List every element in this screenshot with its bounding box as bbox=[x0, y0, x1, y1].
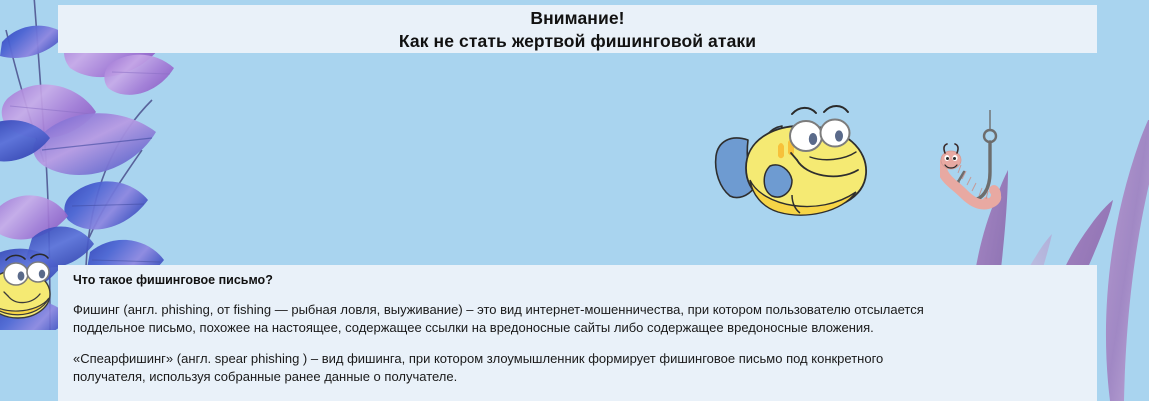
slide-title-panel: Внимание! Как не стать жертвой фишингово… bbox=[58, 5, 1097, 53]
yellow-fish-illustration bbox=[700, 100, 880, 235]
small-yellow-fish-illustration bbox=[0, 250, 58, 330]
title-line-2: Как не стать жертвой фишинговой атаки bbox=[58, 30, 1097, 53]
paragraph-phishing-last: поддельное письмо, похожее на настоящее,… bbox=[73, 319, 1082, 337]
paragraph-spearphishing-last: получателя, используя собранные ранее да… bbox=[73, 368, 1082, 386]
section-question: Что такое фишинговое письмо? bbox=[73, 273, 273, 287]
paragraph-spearphishing-main: «Спеарфишинг» (англ. spear phishing ) – … bbox=[73, 351, 883, 366]
fishing-hook-illustration bbox=[940, 110, 1020, 240]
content-panel: Что такое фишинговое письмо? Фишинг (анг… bbox=[58, 265, 1097, 401]
slide-canvas: Внимание! Как не стать жертвой фишингово… bbox=[0, 0, 1149, 401]
title-line-1: Внимание! bbox=[58, 5, 1097, 30]
paragraph-phishing: Фишинг (англ. phishing, от fishing — рыб… bbox=[73, 301, 1082, 337]
paragraph-phishing-main: Фишинг (англ. phishing, от fishing — рыб… bbox=[73, 302, 924, 317]
paragraph-spearphishing: «Спеарфишинг» (англ. spear phishing ) – … bbox=[73, 350, 1082, 386]
